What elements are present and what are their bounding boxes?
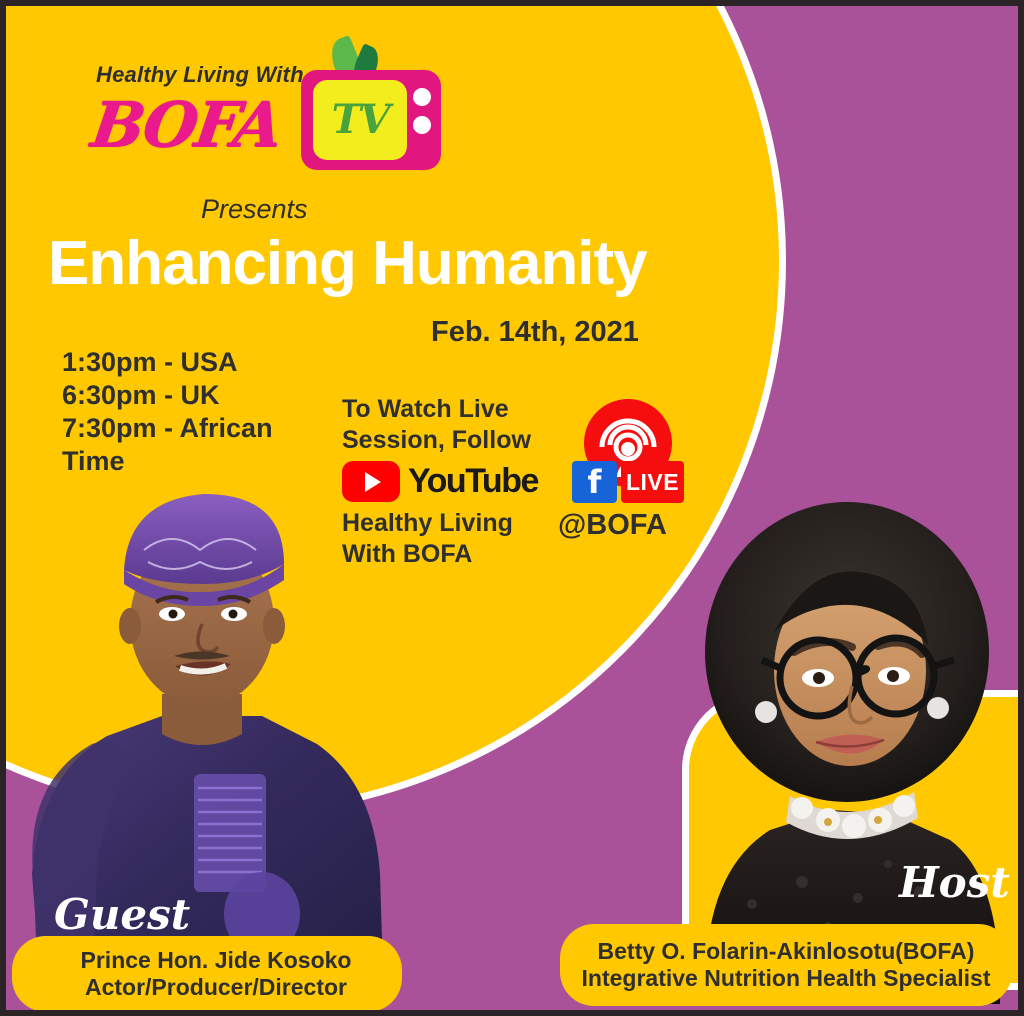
page-title: Enhancing Humanity	[48, 228, 647, 299]
watch-live-line1: To Watch Live	[342, 394, 572, 425]
retro-tv-with-leaves-icon: TV	[297, 38, 447, 178]
event-date: Feb. 14th, 2021	[431, 316, 639, 349]
guest-credits: Actor/Producer/Director	[85, 974, 347, 1001]
guest-name-pill: Prince Hon. Jide Kosoko Actor/Producer/D…	[12, 936, 402, 1010]
time-uk: 6:30pm - UK	[62, 379, 312, 412]
bofa-tv-logo: Healthy Living With BOFA TV	[92, 46, 452, 186]
facebook-live-logo[interactable]: f LIVE	[572, 399, 684, 504]
tv-body-shape: TV	[301, 70, 441, 170]
tv-knob-upper-icon	[413, 88, 431, 106]
time-usa: 1:30pm - USA	[62, 346, 312, 379]
live-badge: LIVE	[621, 461, 684, 503]
event-flyer: Healthy Living With BOFA TV Presents Enh…	[0, 0, 1024, 1016]
social-handle: @BOFA	[558, 509, 667, 542]
facebook-f-icon: f	[572, 461, 617, 503]
purple-background: Healthy Living With BOFA TV Presents Enh…	[6, 6, 1018, 1010]
host-credits: Integrative Nutrition Health Specialist	[582, 965, 991, 992]
host-name: Betty O. Folarin-Akinlosotu(BOFA)	[598, 938, 975, 965]
facebook-live-badges: f LIVE	[572, 461, 684, 503]
tv-knob-lower-icon	[413, 116, 431, 134]
tv-screen-label: TV	[332, 100, 389, 140]
tv-screen-shape: TV	[313, 80, 407, 160]
presents-label: Presents	[201, 194, 308, 225]
youtube-wordmark: YouTube	[408, 461, 538, 502]
guest-name: Prince Hon. Jide Kosoko	[81, 947, 352, 974]
guest-role-label: Guest	[54, 890, 190, 939]
host-role-label: Host	[899, 858, 1010, 907]
host-name-pill: Betty O. Folarin-Akinlosotu(BOFA) Integr…	[560, 924, 1012, 1006]
logo-brand-name: BOFA	[87, 88, 285, 161]
logo-tagline: Healthy Living With	[96, 62, 304, 88]
